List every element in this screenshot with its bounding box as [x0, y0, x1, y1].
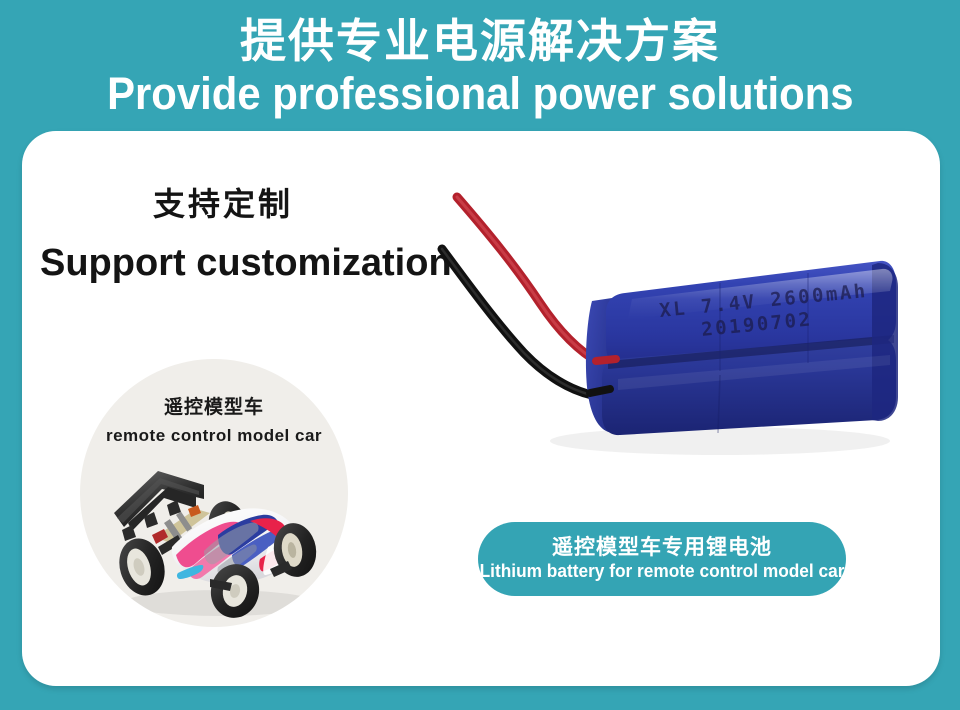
rc-car-rear-wing: [114, 471, 204, 541]
rc-car-badge: 遥控模型车 remote control model car: [80, 359, 348, 627]
header-title-en: Provide professional power solutions: [107, 68, 853, 120]
battery-image: XL 7.4V 2600mAh 20190702: [420, 183, 920, 483]
battery-pack-body: XL 7.4V 2600mAh 20190702: [586, 261, 898, 435]
rc-car-wheel-rear-left: [112, 533, 171, 601]
product-name-banner: 遥控模型车专用锂电池 Lithium battery for remote co…: [478, 522, 846, 596]
battery-wires: [442, 197, 600, 395]
header-title-cn: 提供专业电源解决方案: [240, 14, 720, 68]
customization-title-cn: 支持定制: [153, 179, 293, 225]
content-card: 支持定制 Support customization 遥控模型车 remote …: [22, 131, 940, 686]
product-banner-page: 提供专业电源解决方案 Provide professional power so…: [0, 0, 960, 710]
rc-car-image: [92, 451, 342, 621]
rc-car-title-cn: 遥控模型车: [80, 392, 348, 419]
rc-car-title-en: remote control model car: [80, 426, 348, 446]
banner-title-en: Lithium battery for remote control model…: [480, 560, 845, 583]
banner-title-cn: 遥控模型车专用锂电池: [552, 535, 772, 560]
customization-title-en: Support customization: [40, 242, 452, 285]
page-header: 提供专业电源解决方案 Provide professional power so…: [0, 0, 960, 125]
